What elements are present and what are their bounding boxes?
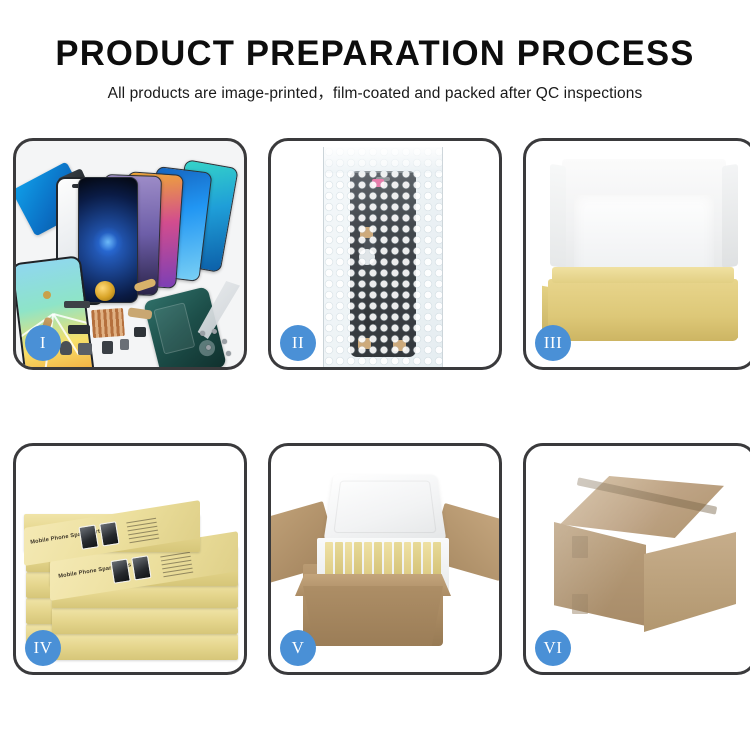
spare-part-image [43,291,51,299]
chip-array-part-image [91,308,125,338]
step-badge-2: II [280,325,316,361]
carton-tape-mark [572,594,588,614]
step-badge-1: I [25,325,61,361]
process-step-1: I [13,138,247,370]
speaker-coil-part-image [95,281,115,301]
spare-part-image [120,339,129,350]
process-step-3: III [523,138,750,370]
stacked-box [52,634,238,660]
spare-part-image [68,325,90,334]
stacked-box [52,608,238,634]
step-badge-6: VI [535,630,571,666]
bag-fold-highlight [324,147,442,173]
step-badge-4: IV [25,630,61,666]
process-step-2: II [268,138,502,370]
step-badge-3: III [535,325,571,361]
page-subtitle: All products are image-printed，film-coat… [0,81,750,103]
carton-front-image [303,586,443,646]
spare-part-image [60,341,72,355]
flex-cable-image [127,307,152,319]
box-print-text-lines [126,518,159,546]
spare-part-image [102,341,113,354]
bubble-wrap-bag-image [323,147,443,367]
spare-part-image [134,327,146,337]
process-step-grid: I II [13,138,737,675]
box-print-text-lines [160,552,193,580]
sealed-carton-image [542,476,738,628]
step-badge-5: V [280,630,316,666]
bubble-texture [324,147,442,367]
screws-image [196,327,236,357]
yellow-box-tray-image [548,279,738,341]
header: PRODUCT PREPARATION PROCESS All products… [0,34,750,103]
carton-tape-mark [572,536,588,558]
process-step-6: VI [523,443,750,675]
product-preparation-infographic: PRODUCT PREPARATION PROCESS All products… [0,0,750,750]
page-title: PRODUCT PREPARATION PROCESS [4,34,747,74]
process-step-5: V [268,443,502,675]
carton-left-face [554,522,646,626]
foam-lid-image [323,474,446,541]
stacked-box-labelled: Mobile Phone Spare Parts [24,514,200,552]
spare-part-image [64,301,90,308]
carton-right-face [644,532,736,632]
process-step-4: Mobile Phone Spare Parts Mobile Phone Sp… [13,443,247,675]
spare-part-image [78,343,92,355]
